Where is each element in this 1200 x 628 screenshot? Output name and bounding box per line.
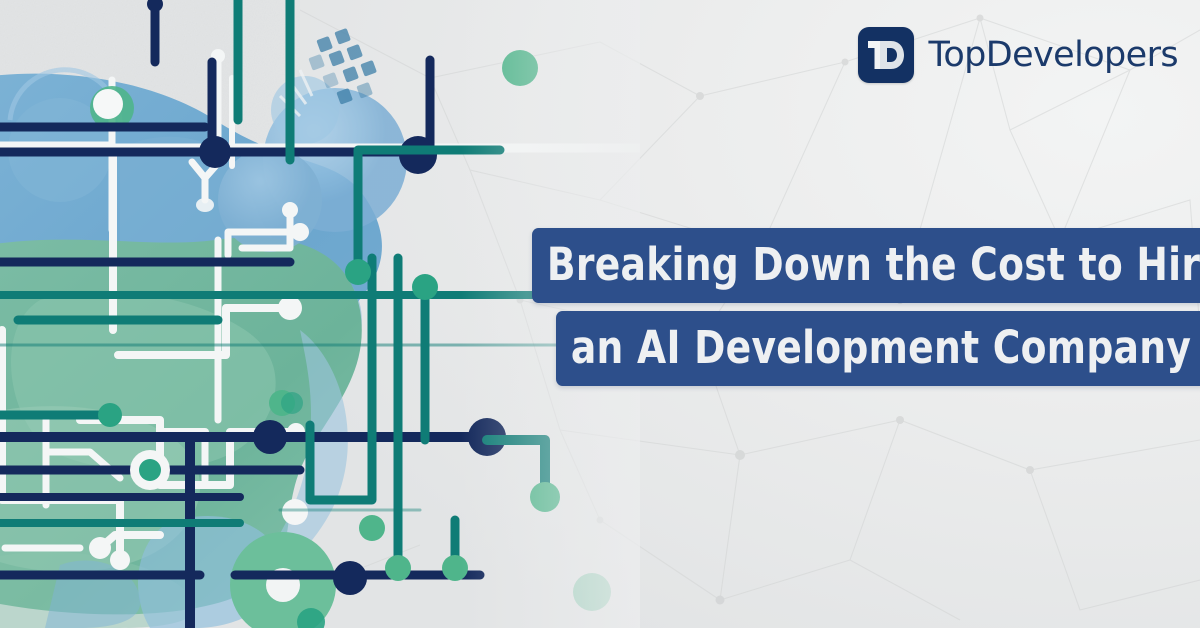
topdevelopers-logo-mark (858, 27, 914, 83)
title-line-1-row: Breaking Down the Cost to Hire (0, 228, 1200, 303)
td-monogram-icon (867, 39, 905, 71)
title-line-2: an AI Development Company (556, 311, 1200, 386)
social-share-banner: TopDevelopers Breaking Down the Cost to … (0, 0, 1200, 628)
title-line-2-row: an AI Development Company (0, 311, 1200, 386)
banner-title: Breaking Down the Cost to Hire an AI Dev… (0, 228, 1200, 386)
topdevelopers-logo[interactable]: TopDevelopers (858, 27, 1178, 83)
title-line-1: Breaking Down the Cost to Hire (532, 228, 1200, 303)
topdevelopers-logo-text: TopDevelopers (928, 35, 1178, 75)
